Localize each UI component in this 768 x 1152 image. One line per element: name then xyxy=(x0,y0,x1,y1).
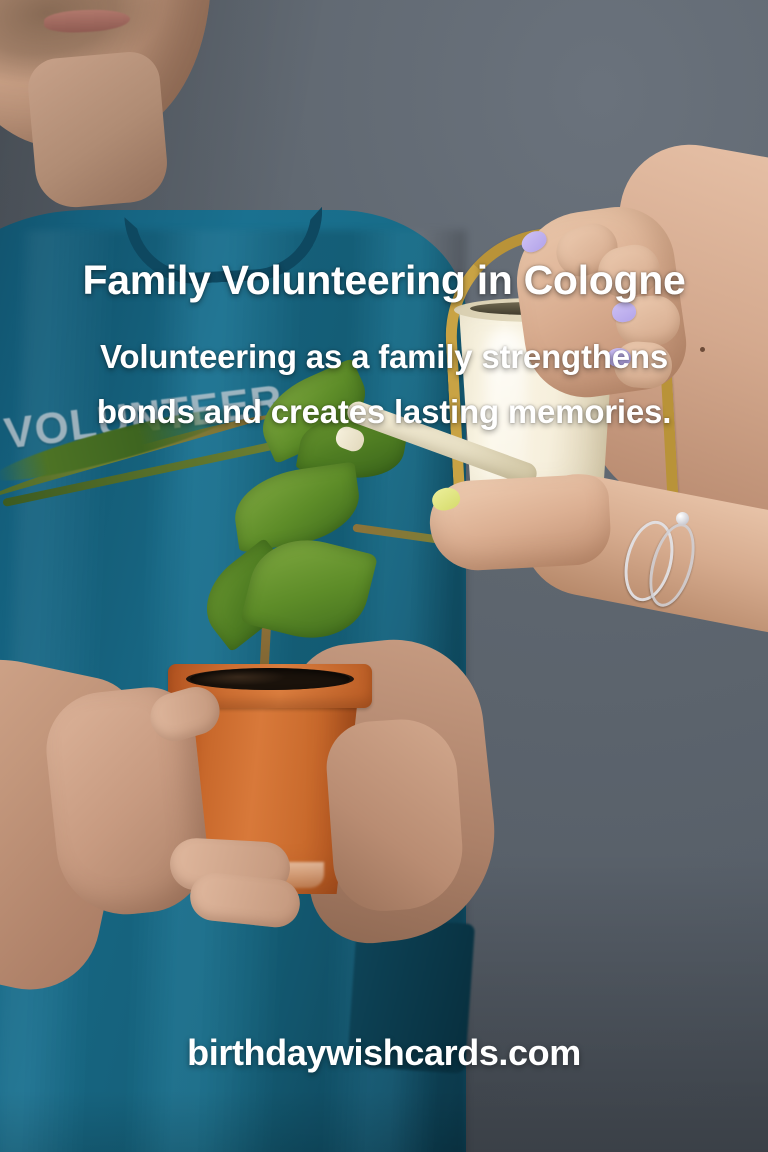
photo-background: VOLUNTEER xyxy=(0,0,768,1152)
poster-card: VOLUNTEER xyxy=(0,0,768,1152)
poster-footer-url: birthdaywishcards.com xyxy=(0,1032,768,1074)
man-hand-right xyxy=(324,716,467,915)
woman-hand-bottom xyxy=(428,473,612,572)
man-neck xyxy=(26,50,171,211)
woman-bracelet-bead xyxy=(676,512,689,525)
pot-soil xyxy=(190,668,350,690)
poster-title: Family Volunteering in Cologne xyxy=(0,258,768,303)
tshirt-bottom-shadow xyxy=(0,1090,466,1152)
poster-subtitle: Volunteering as a family strengthens bon… xyxy=(64,330,704,440)
